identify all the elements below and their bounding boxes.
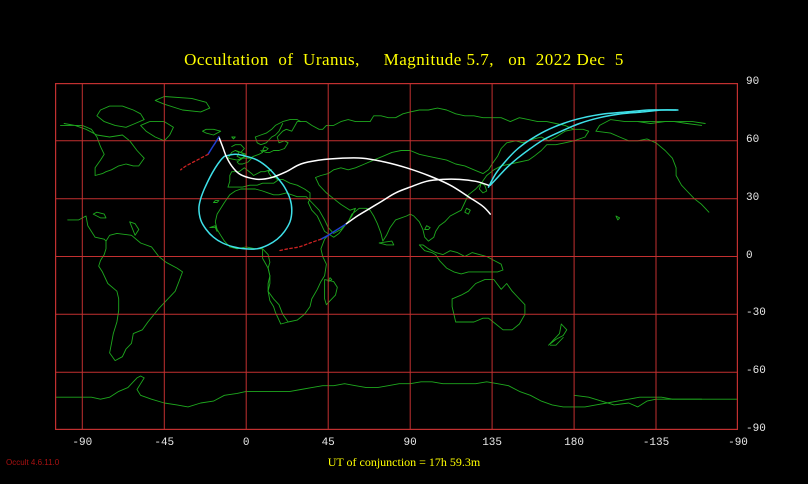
- x-tick-label: 180: [549, 437, 599, 449]
- y-tick-label: 0: [746, 250, 753, 262]
- y-tick-label: 60: [746, 134, 759, 146]
- y-tick-label: 90: [746, 76, 759, 88]
- occultation-map-screenshot: Occultation of Uranus, Magnitude 5.7, on…: [0, 0, 808, 484]
- x-tick-label: 45: [303, 437, 353, 449]
- map-plot-area: -90-4504590135180-135-90 9060300-30-60-9…: [55, 83, 738, 430]
- x-tick-label: -90: [713, 437, 763, 449]
- x-tick-label: -45: [139, 437, 189, 449]
- software-version-label: Occult 4.6.11.0: [6, 458, 59, 467]
- x-tick-label: 90: [385, 437, 435, 449]
- x-tick-label: 135: [467, 437, 517, 449]
- y-tick-label: -30: [746, 307, 766, 319]
- world-map-svg: [55, 83, 738, 430]
- x-tick-label: 0: [221, 437, 271, 449]
- page-title: Occultation of Uranus, Magnitude 5.7, on…: [0, 50, 808, 70]
- y-tick-label: 30: [746, 192, 759, 204]
- y-tick-label: -60: [746, 365, 766, 377]
- y-tick-label: -90: [746, 423, 766, 435]
- x-tick-label: -90: [57, 437, 107, 449]
- conjunction-time-label: UT of conjunction = 17h 59.3m: [0, 455, 808, 470]
- x-tick-label: -135: [631, 437, 681, 449]
